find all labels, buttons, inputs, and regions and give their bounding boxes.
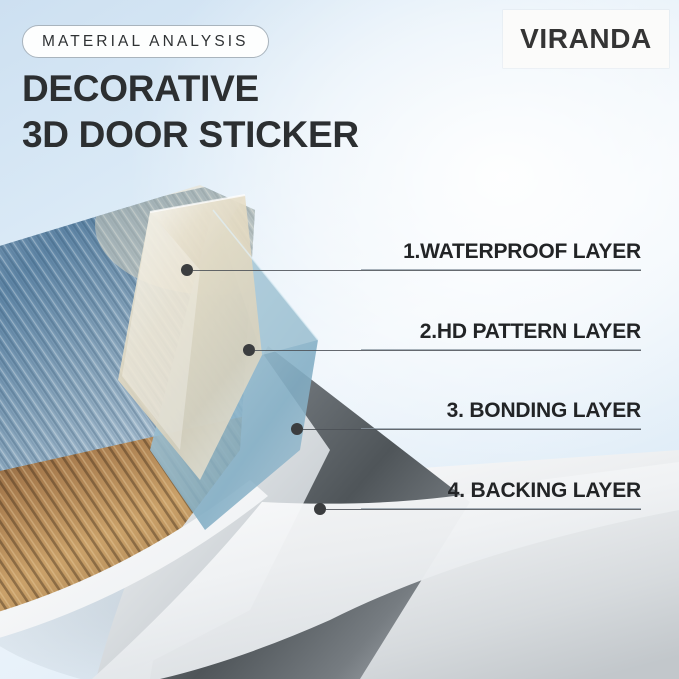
callout-3-label: 3. BONDING LAYER bbox=[447, 399, 641, 423]
callout-dot-1 bbox=[181, 264, 193, 276]
page-title: DECORATIVE 3D DOOR STICKER bbox=[22, 66, 359, 158]
leader-line-2 bbox=[255, 350, 641, 351]
callout-1-rule bbox=[361, 269, 641, 270]
callout-3-rule bbox=[361, 428, 641, 429]
category-badge-label: MATERIAL ANALYSIS bbox=[42, 33, 249, 51]
brand-logo: VIRANDA bbox=[503, 10, 669, 68]
callout-2: 2.HD PATTERN LAYER bbox=[361, 320, 641, 350]
page-title-line-1: DECORATIVE bbox=[22, 66, 359, 112]
callout-1-label: 1.WATERPROOF LAYER bbox=[403, 240, 641, 264]
callout-3: 3. BONDING LAYER bbox=[361, 399, 641, 429]
infographic-canvas: MATERIAL ANALYSIS DECORATIVE 3D DOOR STI… bbox=[0, 0, 679, 679]
callout-4-label: 4. BACKING LAYER bbox=[448, 479, 641, 503]
callout-2-rule bbox=[361, 349, 641, 350]
callout-4-rule bbox=[361, 508, 641, 509]
leader-line-3 bbox=[303, 429, 641, 430]
callout-2-label: 2.HD PATTERN LAYER bbox=[420, 320, 641, 344]
callout-4: 4. BACKING LAYER bbox=[361, 479, 641, 509]
callout-dot-2 bbox=[243, 344, 255, 356]
callout-dot-4 bbox=[314, 503, 326, 515]
brand-logo-text: VIRANDA bbox=[520, 23, 652, 55]
category-badge: MATERIAL ANALYSIS bbox=[22, 25, 269, 58]
callout-dot-3 bbox=[291, 423, 303, 435]
leader-line-1 bbox=[193, 270, 641, 271]
callout-1: 1.WATERPROOF LAYER bbox=[361, 240, 641, 270]
leader-line-4 bbox=[326, 509, 641, 510]
